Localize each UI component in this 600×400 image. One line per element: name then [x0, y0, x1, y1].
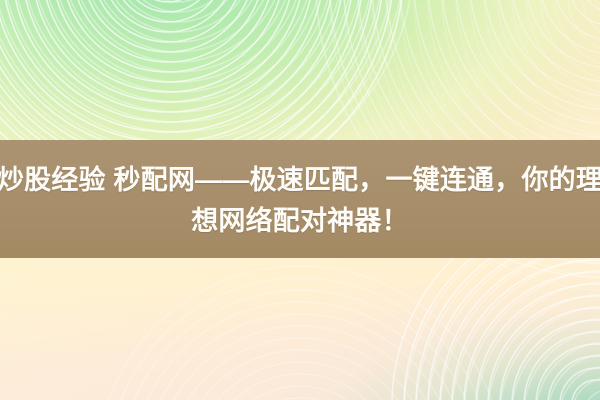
caption-line-2: 想网络配对神器！ — [191, 200, 409, 242]
caption-line-1: 炒股经验 秒配网——极速匹配，一键连通，你的理 — [0, 159, 600, 201]
caption-band: 炒股经验 秒配网——极速匹配，一键连通，你的理 想网络配对神器！ — [0, 140, 600, 258]
promo-banner: 炒股经验 秒配网——极速匹配，一键连通，你的理 想网络配对神器！ — [0, 0, 600, 400]
